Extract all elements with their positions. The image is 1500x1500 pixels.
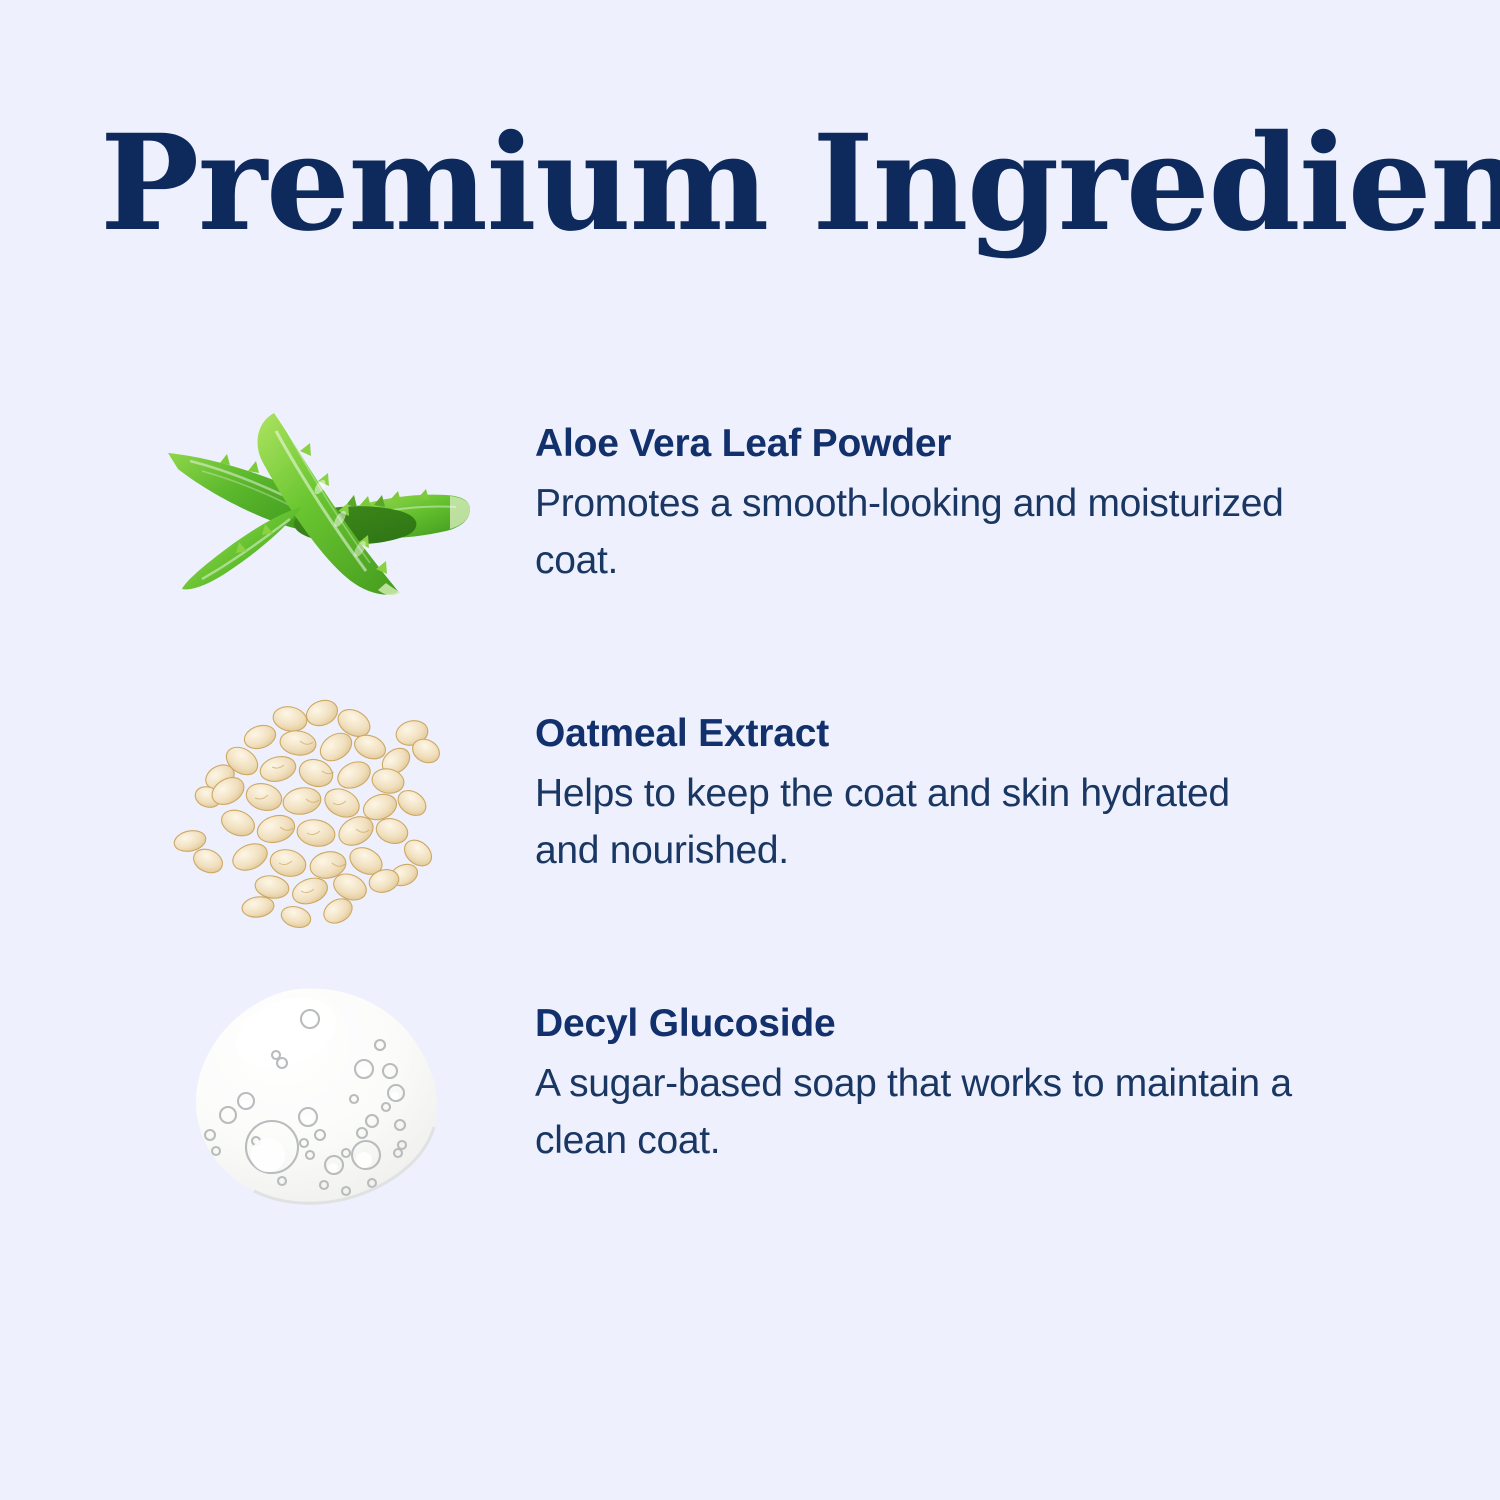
ingredients-infographic: Premium Ingredients	[0, 0, 1500, 1500]
ingredient-description: Promotes a smooth-looking and moisturize…	[535, 475, 1295, 589]
ingredient-text: Aloe Vera Leaf Powder Promotes a smooth-…	[535, 421, 1355, 589]
ingredient-list: Aloe Vera Leaf Powder Promotes a smooth-…	[0, 0, 1500, 1500]
ingredient-name: Aloe Vera Leaf Powder	[535, 421, 1355, 467]
ingredient-text: Oatmeal Extract Helps to keep the coat a…	[535, 711, 1355, 879]
list-item: Decyl Glucoside A sugar-based soap that …	[0, 975, 1400, 1225]
ingredient-text: Decyl Glucoside A sugar-based soap that …	[535, 1001, 1355, 1169]
ingredient-description: A sugar-based soap that works to maintai…	[535, 1055, 1295, 1169]
ingredient-name: Oatmeal Extract	[535, 711, 1355, 757]
gel-droplet-icon	[150, 975, 480, 1225]
list-item: Aloe Vera Leaf Powder Promotes a smooth-…	[0, 395, 1400, 645]
oat-flakes-icon	[150, 685, 480, 935]
list-item: Oatmeal Extract Helps to keep the coat a…	[0, 685, 1400, 935]
aloe-vera-leaves-icon	[150, 395, 480, 645]
ingredient-name: Decyl Glucoside	[535, 1001, 1355, 1047]
ingredient-description: Helps to keep the coat and skin hydrated…	[535, 765, 1295, 879]
